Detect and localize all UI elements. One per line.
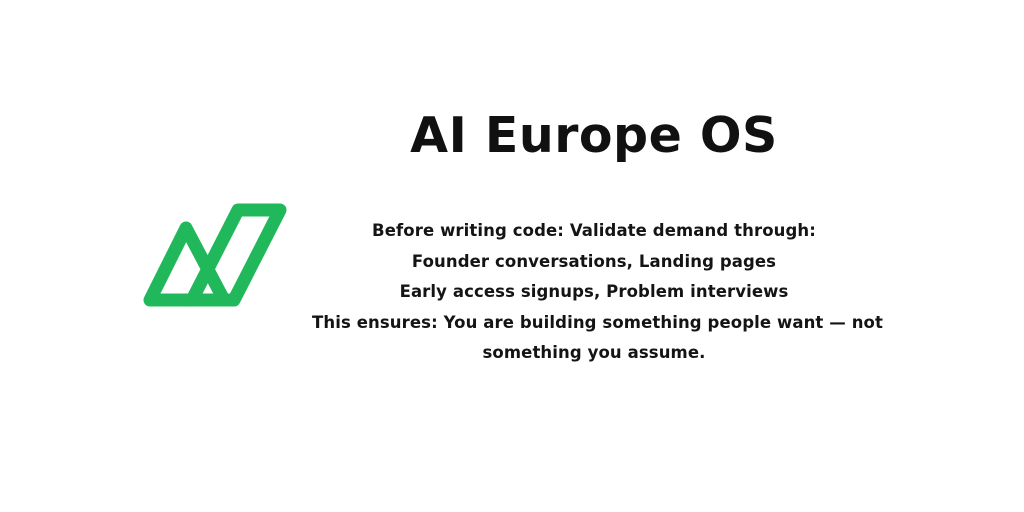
- slide-canvas: AI Europe OS Before writing code: Valida…: [0, 0, 1024, 512]
- abstract-n-logo-mark: [128, 196, 296, 314]
- body-line-3: Early access signups, Problem interviews: [312, 277, 876, 308]
- body-line-5: something you assume.: [312, 338, 876, 369]
- body-paragraph: Before writing code: Validate demand thr…: [312, 216, 876, 369]
- page-title: AI Europe OS: [312, 104, 876, 168]
- body-line-2: Founder conversations, Landing pages: [312, 247, 876, 278]
- text-content-block: AI Europe OS Before writing code: Valida…: [312, 104, 876, 369]
- body-line-1: Before writing code: Validate demand thr…: [312, 216, 876, 247]
- body-line-4: This ensures: You are building something…: [312, 308, 876, 339]
